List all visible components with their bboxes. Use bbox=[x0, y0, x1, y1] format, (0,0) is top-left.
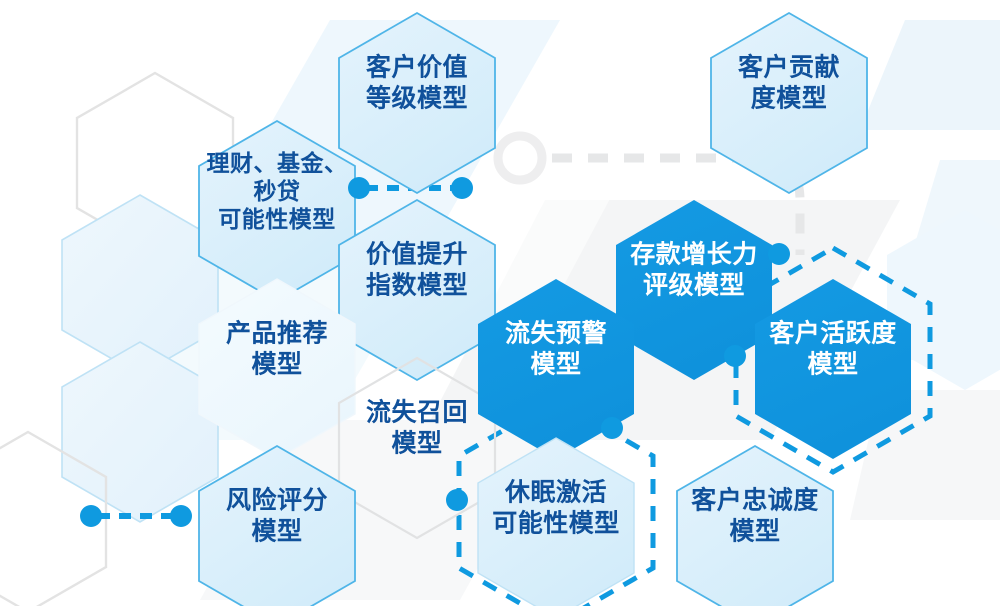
gray-anchor-circle bbox=[498, 136, 542, 180]
dot-wealth-right[interactable] bbox=[348, 177, 370, 199]
dot-left-b[interactable] bbox=[170, 505, 192, 527]
dot-activity-top[interactable] bbox=[768, 243, 790, 265]
hex-customer-contribution[interactable] bbox=[711, 13, 867, 193]
hex-customer-loyalty[interactable] bbox=[677, 446, 833, 606]
dot-dormant-top[interactable] bbox=[601, 417, 623, 439]
diagram-canvas: 客户价值 等级模型 客户贡献 度模型 理财、基金、 秒贷 可能性模型 价值提升 … bbox=[0, 0, 1000, 606]
hexagon-diagram-svg bbox=[0, 0, 1000, 606]
dot-activity-left[interactable] bbox=[724, 345, 746, 367]
dot-left-a[interactable] bbox=[80, 505, 102, 527]
dot-value-left[interactable] bbox=[451, 177, 473, 199]
backdrop-blue-right-upper bbox=[860, 20, 1000, 130]
dot-dormant-left[interactable] bbox=[446, 489, 468, 511]
